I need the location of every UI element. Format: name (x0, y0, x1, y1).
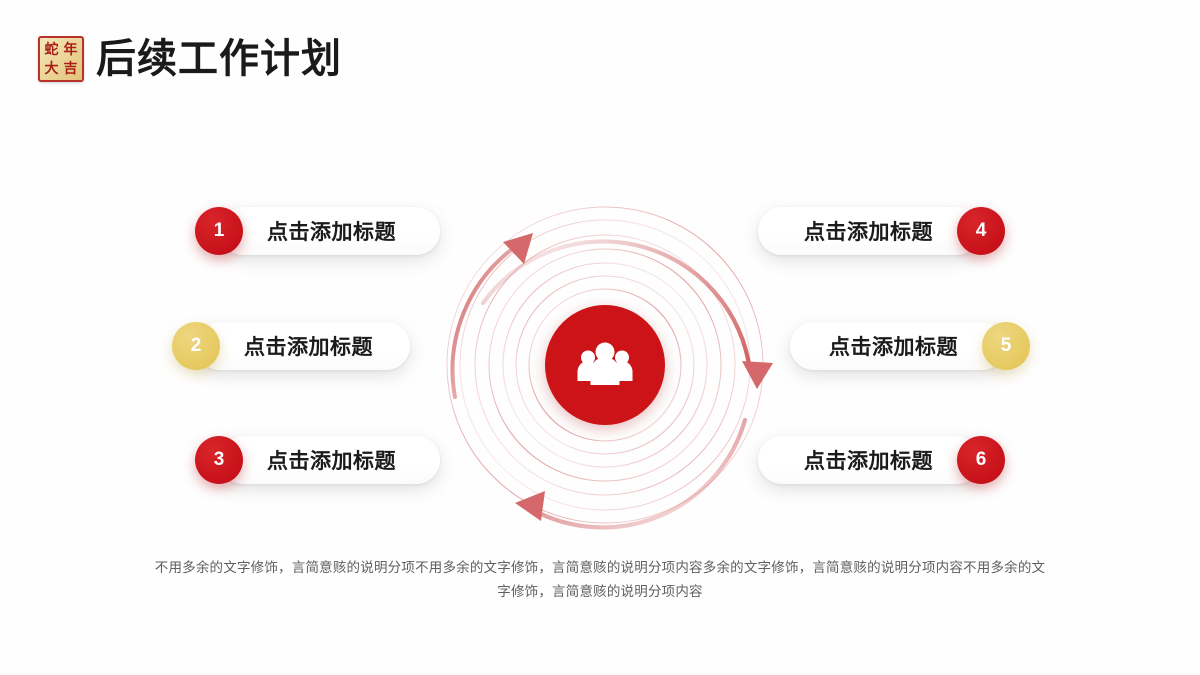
item-6-label: 点击添加标题 (804, 445, 933, 475)
item-3-pill[interactable]: 点击添加标题 (219, 436, 440, 484)
item-1[interactable]: 点击添加标题1 (195, 207, 440, 255)
item-4[interactable]: 点击添加标题4 (758, 207, 1005, 255)
item-5[interactable]: 点击添加标题5 (790, 322, 1030, 370)
item-4-badge[interactable]: 4 (957, 207, 1005, 255)
item-3-badge[interactable]: 3 (195, 436, 243, 484)
center-circle (545, 305, 665, 425)
item-1-label: 点击添加标题 (267, 216, 396, 246)
item-6-badge[interactable]: 6 (957, 436, 1005, 484)
item-2-pill[interactable]: 点击添加标题 (196, 322, 410, 370)
item-4-label: 点击添加标题 (804, 216, 933, 246)
item-2-label: 点击添加标题 (244, 331, 373, 361)
item-1-badge[interactable]: 1 (195, 207, 243, 255)
item-3[interactable]: 点击添加标题3 (195, 436, 440, 484)
item-3-label: 点击添加标题 (267, 445, 396, 475)
people-group-icon (573, 333, 637, 397)
footer-description: 不用多余的文字修饰，言简意赅的说明分项不用多余的文字修饰，言简意赅的说明分项内容… (150, 556, 1050, 604)
item-6[interactable]: 点击添加标题6 (758, 436, 1005, 484)
item-2-badge[interactable]: 2 (172, 322, 220, 370)
item-2[interactable]: 点击添加标题2 (172, 322, 410, 370)
item-5-badge[interactable]: 5 (982, 322, 1030, 370)
item-1-pill[interactable]: 点击添加标题 (219, 207, 440, 255)
item-5-label: 点击添加标题 (829, 331, 958, 361)
item-6-pill[interactable]: 点击添加标题 (758, 436, 981, 484)
item-5-pill[interactable]: 点击添加标题 (790, 322, 1006, 370)
item-4-pill[interactable]: 点击添加标题 (758, 207, 981, 255)
